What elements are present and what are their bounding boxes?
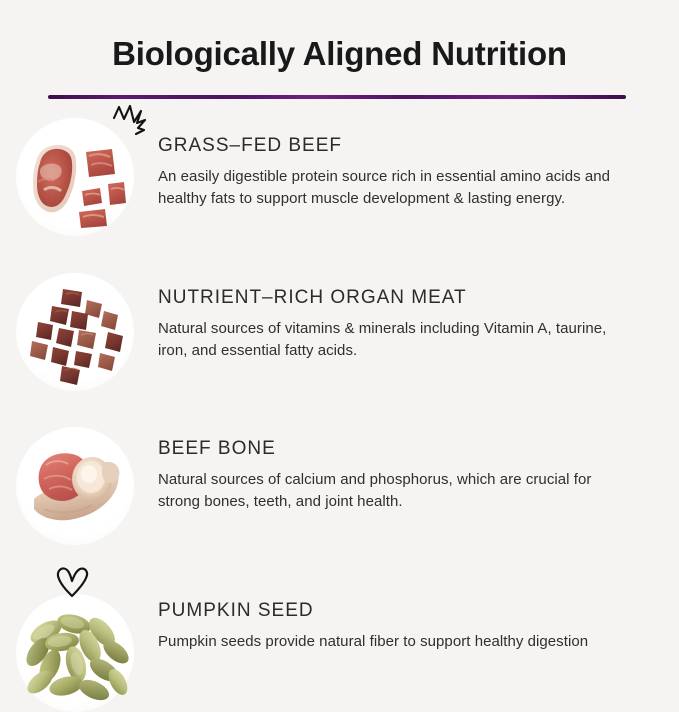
- item-description: Natural sources of vitamins & minerals i…: [158, 318, 617, 361]
- organ-meat-illustration: [16, 273, 134, 391]
- item-description: Natural sources of calcium and phosphoru…: [158, 469, 617, 512]
- ingredient-list: GRASS–FED BEEF An easily digestible prot…: [0, 112, 679, 712]
- item-description: Pumpkin seeds provide natural fiber to s…: [158, 631, 617, 653]
- list-item: PUMPKIN SEED Pumpkin seeds provide natur…: [0, 578, 679, 712]
- beef-bone-illustration: [16, 427, 134, 545]
- thumbnail-container: [0, 265, 150, 391]
- text-column: GRASS–FED BEEF An easily digestible prot…: [150, 112, 679, 209]
- thumbnail-container: [0, 578, 150, 712]
- item-description: An easily digestible protein source rich…: [158, 166, 617, 209]
- text-column: NUTRIENT–RICH ORGAN MEAT Natural sources…: [150, 265, 679, 361]
- list-item: BEEF BONE Natural sources of calcium and…: [0, 421, 679, 545]
- beef-illustration: [16, 118, 134, 236]
- pumpkin-seed-illustration: [16, 594, 134, 712]
- grass-fed-beef-photo: [16, 118, 134, 236]
- nutrition-infographic: Biologically Aligned Nutrition: [0, 0, 679, 679]
- item-title: BEEF BONE: [158, 438, 617, 460]
- organ-meat-photo: [16, 273, 134, 391]
- list-item: GRASS–FED BEEF An easily digestible prot…: [0, 112, 679, 236]
- pumpkin-seed-photo: [16, 594, 134, 712]
- title-divider: [48, 95, 626, 99]
- thumbnail-container: [0, 421, 150, 545]
- page-title: Biologically Aligned Nutrition: [0, 34, 679, 74]
- text-column: BEEF BONE Natural sources of calcium and…: [150, 421, 679, 512]
- thumbnail-container: [0, 112, 150, 236]
- item-title: NUTRIENT–RICH ORGAN MEAT: [158, 287, 617, 309]
- item-title: GRASS–FED BEEF: [158, 135, 617, 157]
- text-column: PUMPKIN SEED Pumpkin seeds provide natur…: [150, 578, 679, 653]
- header: Biologically Aligned Nutrition: [0, 34, 679, 74]
- beef-bone-photo: [16, 427, 134, 545]
- item-title: PUMPKIN SEED: [158, 600, 617, 622]
- list-item: NUTRIENT–RICH ORGAN MEAT Natural sources…: [0, 265, 679, 391]
